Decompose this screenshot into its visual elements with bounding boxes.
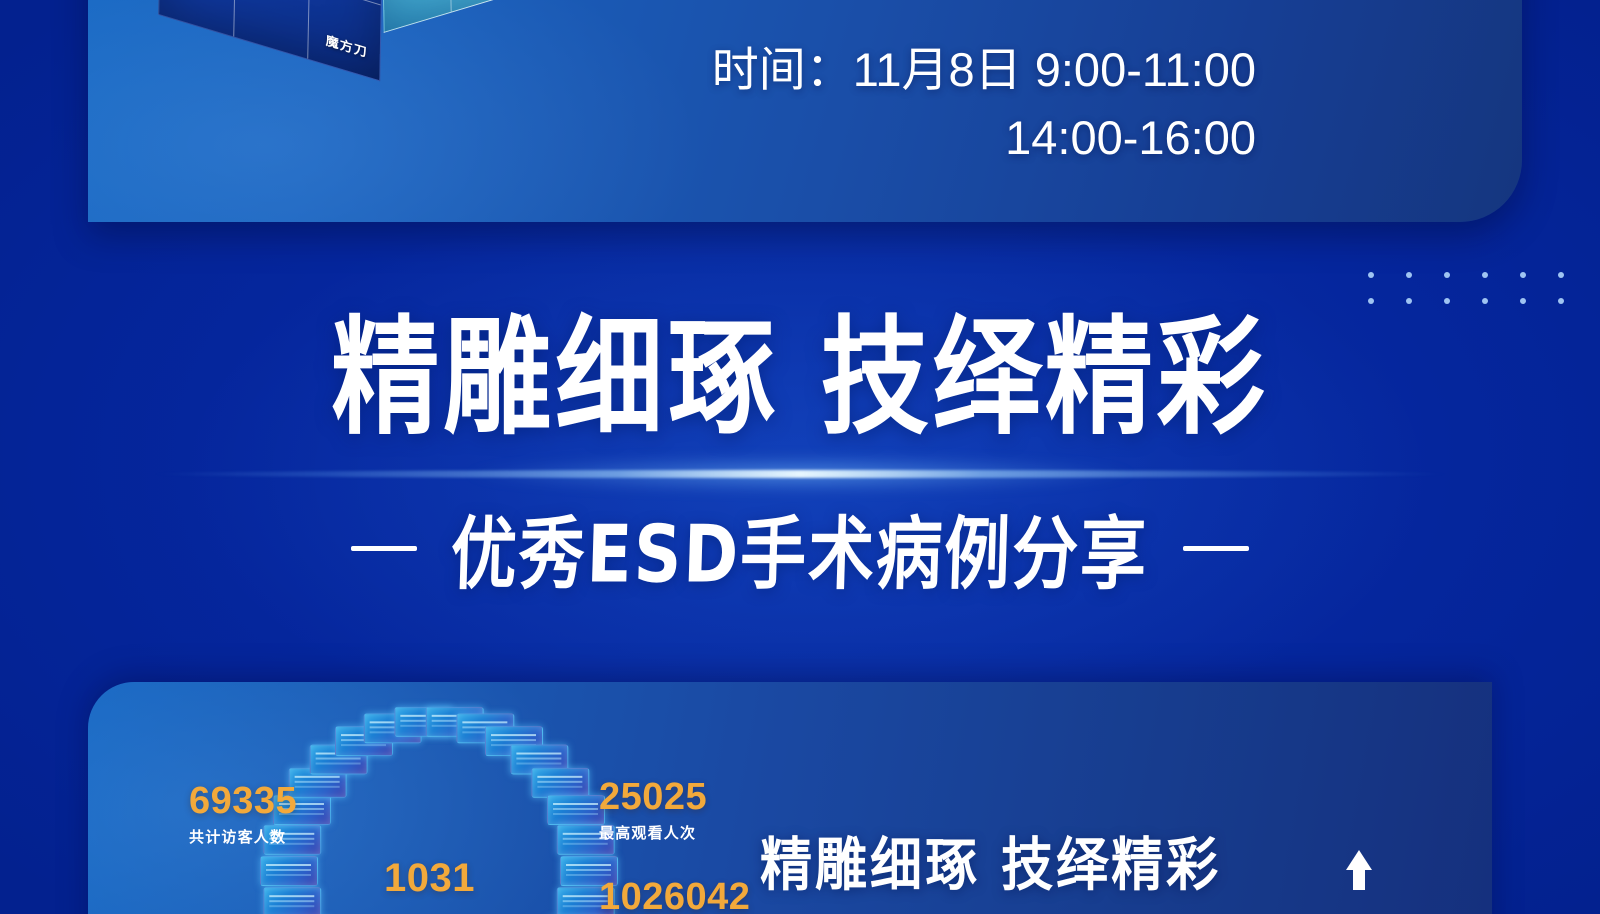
event-time-line-2: 14:00-16:00 bbox=[712, 104, 1256, 172]
ring-thumb bbox=[547, 795, 605, 825]
stats-card: 69335 共计访客人数 25025 最高观看人次 1031 1026042 精… bbox=[88, 682, 1492, 914]
stat-value: 1031 bbox=[384, 858, 475, 899]
cube-grid-line bbox=[233, 0, 239, 37]
stat-value: 1026042 bbox=[599, 878, 750, 914]
dot bbox=[1406, 272, 1412, 278]
cube-grid-line bbox=[307, 0, 313, 59]
ring-thumb bbox=[531, 768, 589, 798]
divider-beam bbox=[150, 470, 1450, 478]
dot bbox=[1406, 298, 1412, 304]
dot bbox=[1520, 272, 1526, 278]
cube-grid-line bbox=[161, 0, 381, 5]
stat-cases: 1031 bbox=[384, 858, 475, 899]
dot bbox=[1444, 272, 1450, 278]
swoosh-secondary-icon bbox=[158, 0, 385, 6]
page-subtitle: 优秀ESD手术病例分享 bbox=[450, 490, 1151, 605]
cube-illustration: 魔方刀 bbox=[163, 0, 543, 32]
dot bbox=[1558, 272, 1564, 278]
dot bbox=[1482, 298, 1488, 304]
dot bbox=[1520, 298, 1526, 304]
stats-card-title: 精雕细琢 技绎精彩 bbox=[760, 818, 1221, 901]
event-time-block: 时间：11月8日 9:00-11:00 14:00-16:00 bbox=[712, 36, 1256, 171]
poster-stage: 魔方刀 时间：11月8日 9:00-11:00 14:00-16:00 精雕细琢… bbox=[0, 0, 1600, 914]
dot bbox=[1482, 272, 1488, 278]
event-time-line-1: 时间：11月8日 9:00-11:00 bbox=[712, 36, 1256, 104]
ring-thumb bbox=[263, 887, 321, 914]
dot bbox=[1558, 298, 1564, 304]
stat-peak-viewers: 25025 最高观看人次 bbox=[599, 778, 707, 843]
dot bbox=[1368, 298, 1374, 304]
stat-label: 最高观看人次 bbox=[599, 822, 707, 843]
page-title: 精雕细琢 技绎精彩 bbox=[0, 312, 1600, 447]
stat-value: 69335 bbox=[189, 782, 297, 821]
hero-subtitle-row: 优秀ESD手术病例分享 bbox=[0, 500, 1600, 596]
stat-value: 25025 bbox=[599, 778, 707, 817]
dot bbox=[1368, 272, 1374, 278]
ring-thumb bbox=[260, 856, 318, 886]
dash-right-icon bbox=[1183, 546, 1249, 551]
stat-total: 1026042 bbox=[599, 878, 750, 914]
arrow-up-icon bbox=[1346, 850, 1372, 870]
cube-grid-line bbox=[446, 0, 452, 12]
stat-label: 共计访客人数 bbox=[189, 826, 297, 847]
hero-section: 精雕细琢 技绎精彩 bbox=[0, 322, 1600, 436]
dash-left-icon bbox=[351, 546, 417, 551]
cube-label: 魔方刀 bbox=[326, 30, 368, 61]
stat-visitors: 69335 共计访客人数 bbox=[189, 782, 297, 847]
dot bbox=[1444, 298, 1450, 304]
top-banner-card: 魔方刀 时间：11月8日 9:00-11:00 14:00-16:00 bbox=[88, 0, 1522, 222]
